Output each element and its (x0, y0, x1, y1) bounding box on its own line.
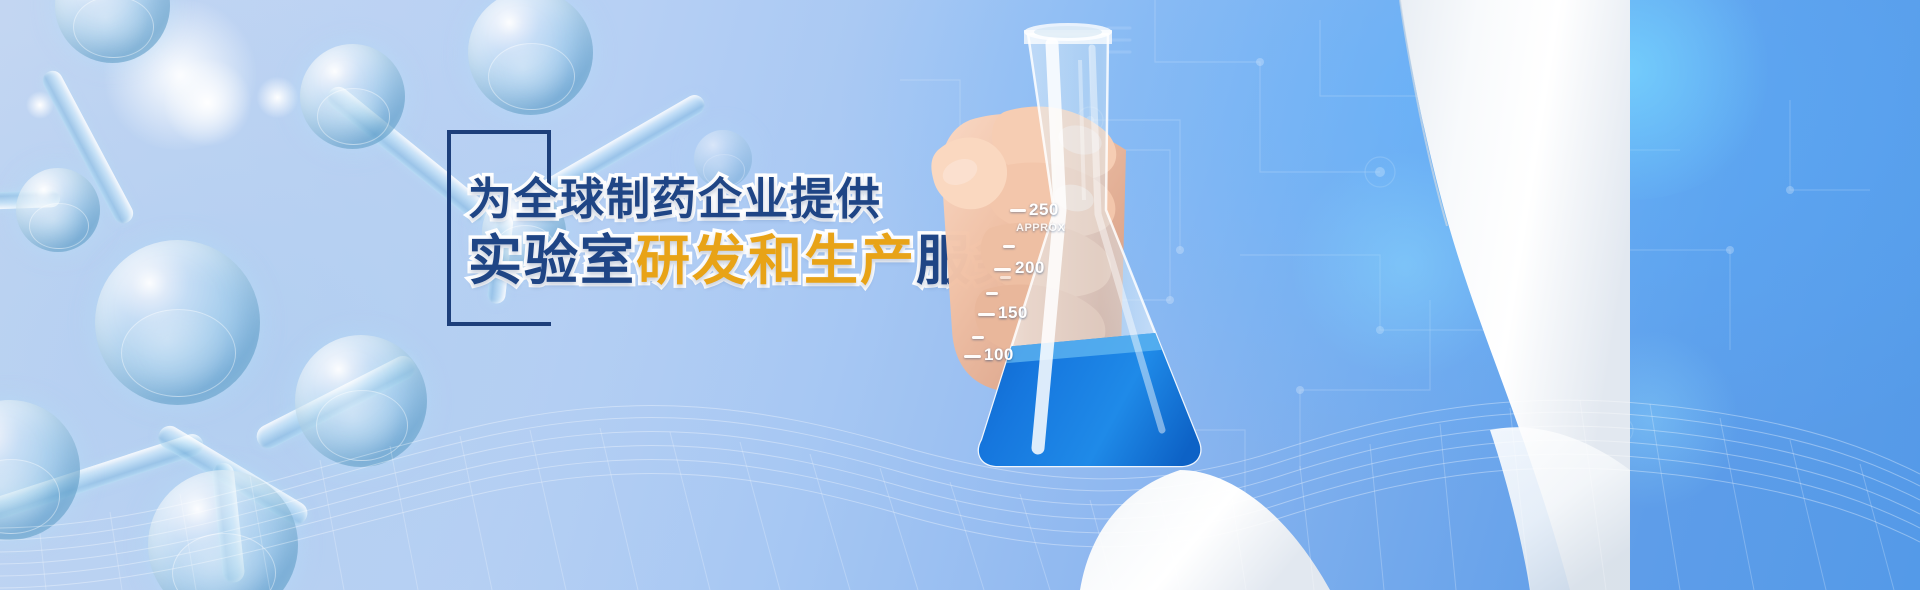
flask-label-200: 200 (1015, 258, 1045, 278)
bracket-top-edge (447, 130, 551, 134)
flask-label-250: 250 (1029, 200, 1059, 220)
flask-label-approx: APPROX (1016, 222, 1065, 234)
flask-tick-200 (994, 268, 1011, 271)
flask-tick-minor-2 (1000, 276, 1011, 279)
headline-line-2-prefix: 实验室 (468, 231, 636, 291)
flask-tick-250 (1010, 209, 1026, 212)
hero-banner: 为全球制药企业提供 实验室研发和生产服务 (0, 0, 1920, 590)
molecule-sphere (300, 44, 405, 149)
molecule-sphere (16, 168, 100, 252)
headline-line-2-highlight: 研发和生产 (636, 231, 916, 291)
mesh-wave-graphic (0, 290, 1920, 590)
flask-tick-minor-1 (1003, 245, 1015, 248)
headline-line-1-text: 为全球制药企业提供 (468, 175, 882, 224)
